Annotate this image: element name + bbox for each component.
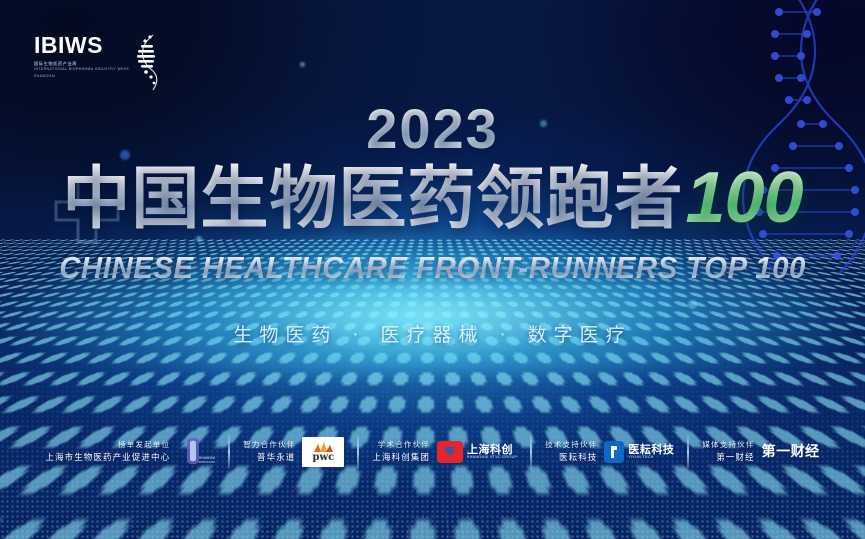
partner-bar: 榜单发起单位 上海市生物医药产业促进中心 SHANGHAI BIOPHARMA … — [0, 435, 865, 469]
partner-block-media[interactable]: 媒体支持伙伴 第一财经 第一财经 — [689, 438, 832, 467]
partner-role: 媒体支持伙伴 — [702, 438, 754, 452]
ibiws-logo-line-cn: 国际生物医药产业周 — [34, 60, 129, 67]
year-heading: 2023 — [0, 96, 865, 161]
pwc-mark-icon — [312, 441, 334, 452]
bokeh-dot — [688, 300, 697, 309]
tagline: 生物医药 · 医疗器械 · 数字医疗 — [0, 320, 865, 347]
poster-canvas: IBIWS 国际生物医药产业周 INTERNATIONAL BIOPHARMA … — [0, 0, 865, 539]
tagline-separator: · — [350, 324, 367, 346]
headline-chinese: 中国生物医药领跑者 — [62, 160, 683, 239]
shanghai-sti-group-logo: 上海科创 SHANGHAI STVC GROUP — [437, 441, 517, 463]
sti-group-mark-icon — [437, 441, 463, 463]
ibiws-logo-line-date: SHANGHAI — [34, 74, 129, 78]
yiyun-tech-logo: 医耘科技 YIYUN TECH — [604, 441, 674, 463]
shanghai-biopharma-center-logo-icon: SHANGHAI BIOPHARMA — [177, 435, 215, 469]
yicai-wordmark: 第一财经 — [762, 445, 820, 459]
yiyun-wordmark: 医耘科技 — [628, 444, 674, 455]
partner-block-initiator[interactable]: 榜单发起单位 上海市生物医药产业促进中心 SHANGHAI BIOPHARMA — [32, 435, 228, 469]
sti-group-wordmark: 上海科创 — [467, 444, 517, 455]
pwc-wordmark: pwc — [313, 453, 335, 463]
partner-name: 上海科创集团 — [372, 451, 430, 466]
english-subtitle: CHINESE HEALTHCARE FRONT-RUNNERS TOP 100 — [22, 250, 844, 286]
partner-block-technology[interactable]: 技术支持伙伴 医耘科技 医耘科技 YIYUN TECH — [532, 438, 687, 467]
tagline-item: 生物医药 — [233, 324, 337, 346]
partner-name: 医耘科技 — [545, 451, 597, 466]
ibiws-logo-line-en: INTERNATIONAL BIOPHARMA INDUSTRY WEEK — [34, 67, 129, 72]
ibiws-logo[interactable]: IBIWS 国际生物医药产业周 INTERNATIONAL BIOPHARMA … — [34, 34, 162, 96]
partner-block-academic[interactable]: 学术合作伙伴 上海科创集团 上海科创 SHANGHAI STVC GROUP — [359, 438, 530, 467]
yiyun-mark-icon — [604, 441, 624, 463]
partner-role: 技术支持伙伴 — [545, 438, 597, 452]
pwc-logo: pwc — [302, 437, 344, 467]
svg-text:BIOPHARMA: BIOPHARMA — [199, 460, 215, 464]
partner-name: 第一财经 — [702, 451, 754, 466]
partner-name: 普华永道 — [243, 451, 295, 466]
yicai-logo: 第一财经 — [762, 445, 820, 459]
sti-group-subtext: SHANGHAI STVC GROUP — [467, 455, 517, 460]
ibiws-helix-mark-icon — [133, 34, 159, 92]
main-headline: 中国生物医药领跑者100 — [0, 162, 865, 234]
partner-role: 学术合作伙伴 — [372, 438, 430, 452]
tagline-item: 数字医疗 — [528, 324, 632, 346]
partner-block-intellectual[interactable]: 智力合作伙伴 普华永道 pwc — [230, 437, 357, 467]
tagline-item: 医疗器械 — [380, 324, 484, 346]
partner-name: 上海市生物医药产业促进中心 — [45, 451, 170, 466]
partner-role: 智力合作伙伴 — [243, 438, 295, 452]
tagline-separator: · — [498, 324, 515, 346]
bokeh-dot — [300, 62, 305, 67]
partner-role: 榜单发起单位 — [45, 438, 170, 452]
ibiws-wordmark: IBIWS — [34, 34, 129, 57]
headline-number: 100 — [685, 158, 802, 238]
